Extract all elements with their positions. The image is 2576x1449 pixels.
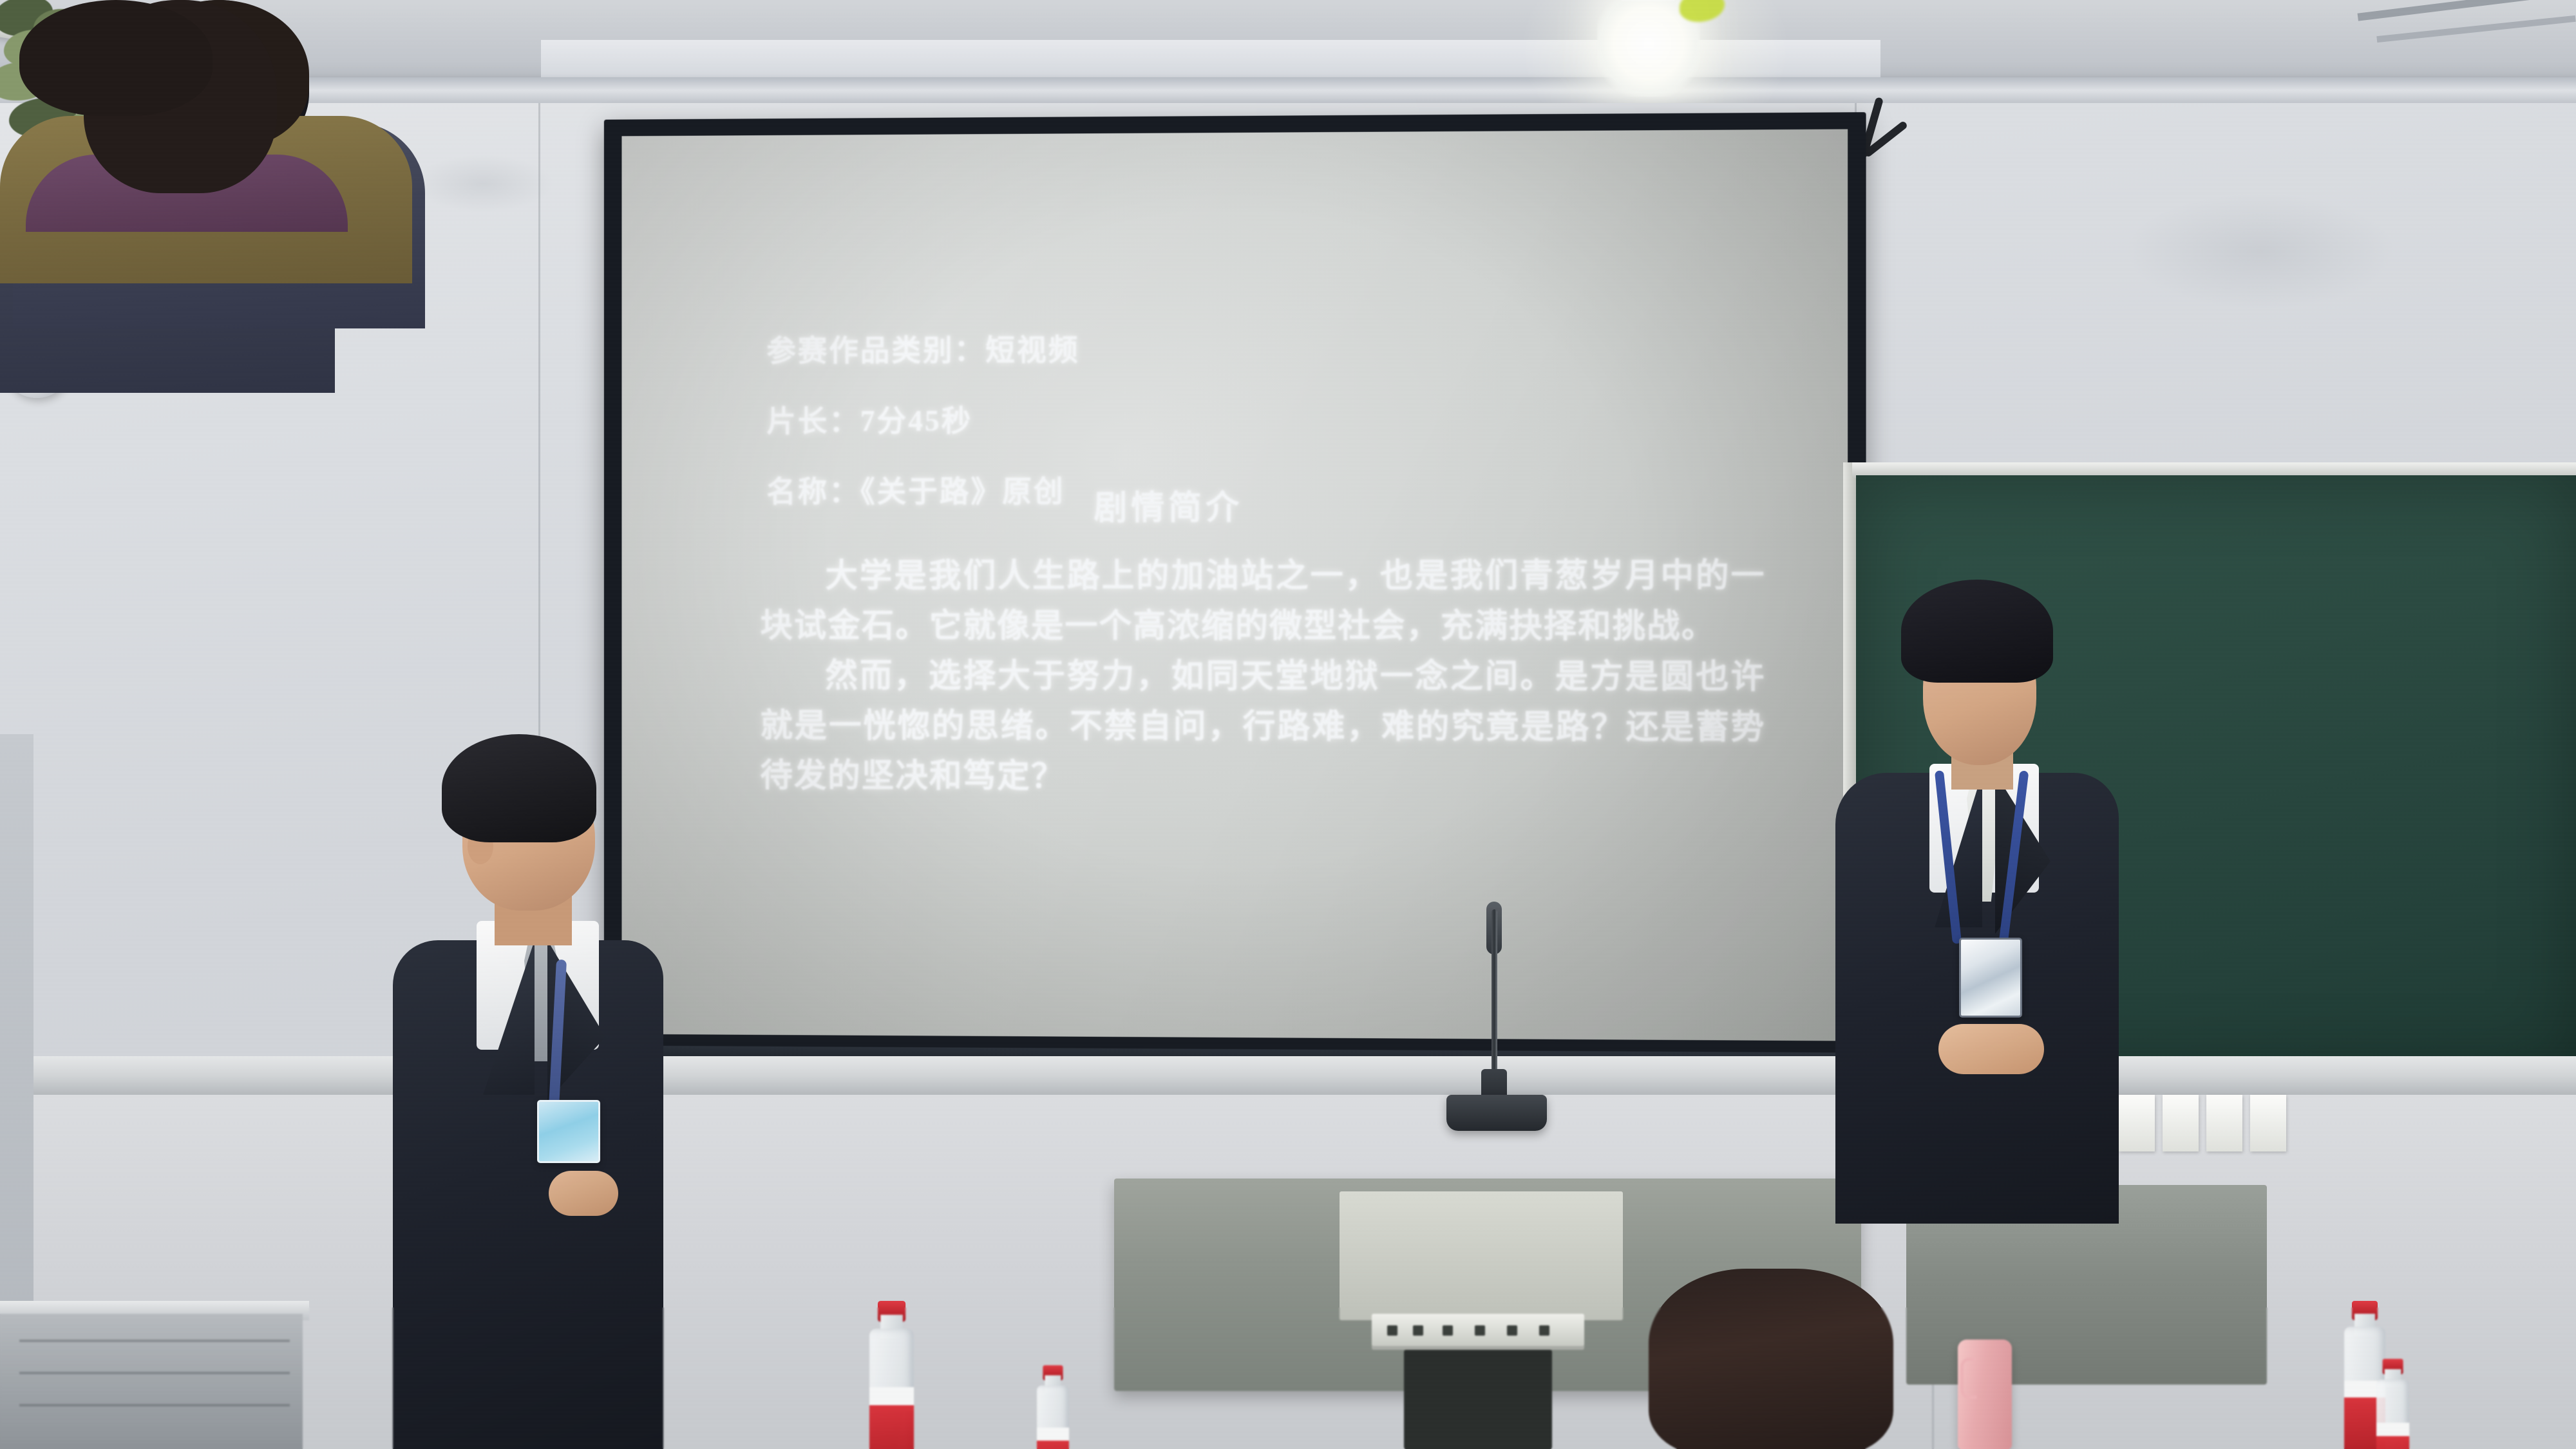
slide-meta-category: 参赛作品类别：短视频 bbox=[766, 327, 1079, 370]
cabinet-louver bbox=[19, 1404, 290, 1406]
console-recess bbox=[1404, 1350, 1552, 1449]
microphone-base[interactable] bbox=[1446, 1095, 1547, 1131]
pink-thermos[interactable] bbox=[1958, 1340, 2012, 1449]
hair bbox=[1901, 580, 2053, 683]
presenter-left bbox=[386, 728, 670, 1449]
presenter-right bbox=[1816, 580, 2138, 1224]
slide-paragraph: 然而，选择大于努力，如同天堂地狱一念之间。是方是圆也许就是一恍惚的思绪。不禁自问… bbox=[760, 651, 1765, 804]
paper-stack bbox=[2250, 1095, 2286, 1151]
head bbox=[19, 0, 213, 116]
console-control-strip[interactable] bbox=[1372, 1314, 1584, 1350]
hair bbox=[442, 734, 596, 842]
classroom-presentation-photo: 参赛作品类别：短视频 片长：7分45秒 名称：《关于路》原创 剧情简介 大学是我… bbox=[0, 0, 2576, 1449]
console-panel bbox=[1340, 1191, 1623, 1320]
clasped-hands bbox=[549, 1171, 618, 1216]
bottle-label bbox=[869, 1405, 914, 1449]
cabinet-louver bbox=[19, 1340, 290, 1342]
id-badge bbox=[537, 1100, 600, 1163]
paper-stack bbox=[2163, 1095, 2199, 1151]
bottle-label bbox=[1037, 1441, 1069, 1449]
paper-stack bbox=[2206, 1095, 2242, 1151]
long-hair bbox=[1649, 1269, 1893, 1449]
clasped-hands bbox=[1938, 1024, 2044, 1074]
projection-screen: 参赛作品类别：短视频 片长：7分45秒 名称：《关于路》原创 剧情简介 大学是我… bbox=[604, 112, 1866, 1063]
projection-surface: 参赛作品类别：短视频 片长：7分45秒 名称：《关于路》原创 剧情简介 大学是我… bbox=[621, 129, 1848, 1041]
wall-smudge bbox=[2125, 193, 2396, 309]
slide-meta-title: 名称：《关于路》原创 bbox=[766, 468, 1065, 510]
slide-meta-duration: 片长：7分45秒 bbox=[766, 397, 972, 440]
wall-smudge bbox=[412, 155, 554, 213]
slide-content: 参赛作品类别：短视频 片长：7分45秒 名称：《关于路》原创 剧情简介 大学是我… bbox=[621, 129, 1848, 1041]
cabinet-louver bbox=[19, 1372, 290, 1374]
paper-stacks bbox=[2119, 1095, 2312, 1154]
slide-paragraph: 大学是我们人生路上的加油站之一，也是我们青葱岁月中的一块试金石。它就像是一个高浓… bbox=[760, 551, 1765, 652]
id-badge bbox=[1959, 938, 2022, 1018]
left-cabinet bbox=[0, 1314, 303, 1449]
slide-body: 大学是我们人生路上的加油站之一，也是我们青葱岁月中的一块试金石。它就像是一个高浓… bbox=[760, 551, 1765, 804]
slide-heading: 剧情简介 bbox=[1094, 480, 1243, 529]
bottle-label bbox=[2376, 1436, 2409, 1449]
